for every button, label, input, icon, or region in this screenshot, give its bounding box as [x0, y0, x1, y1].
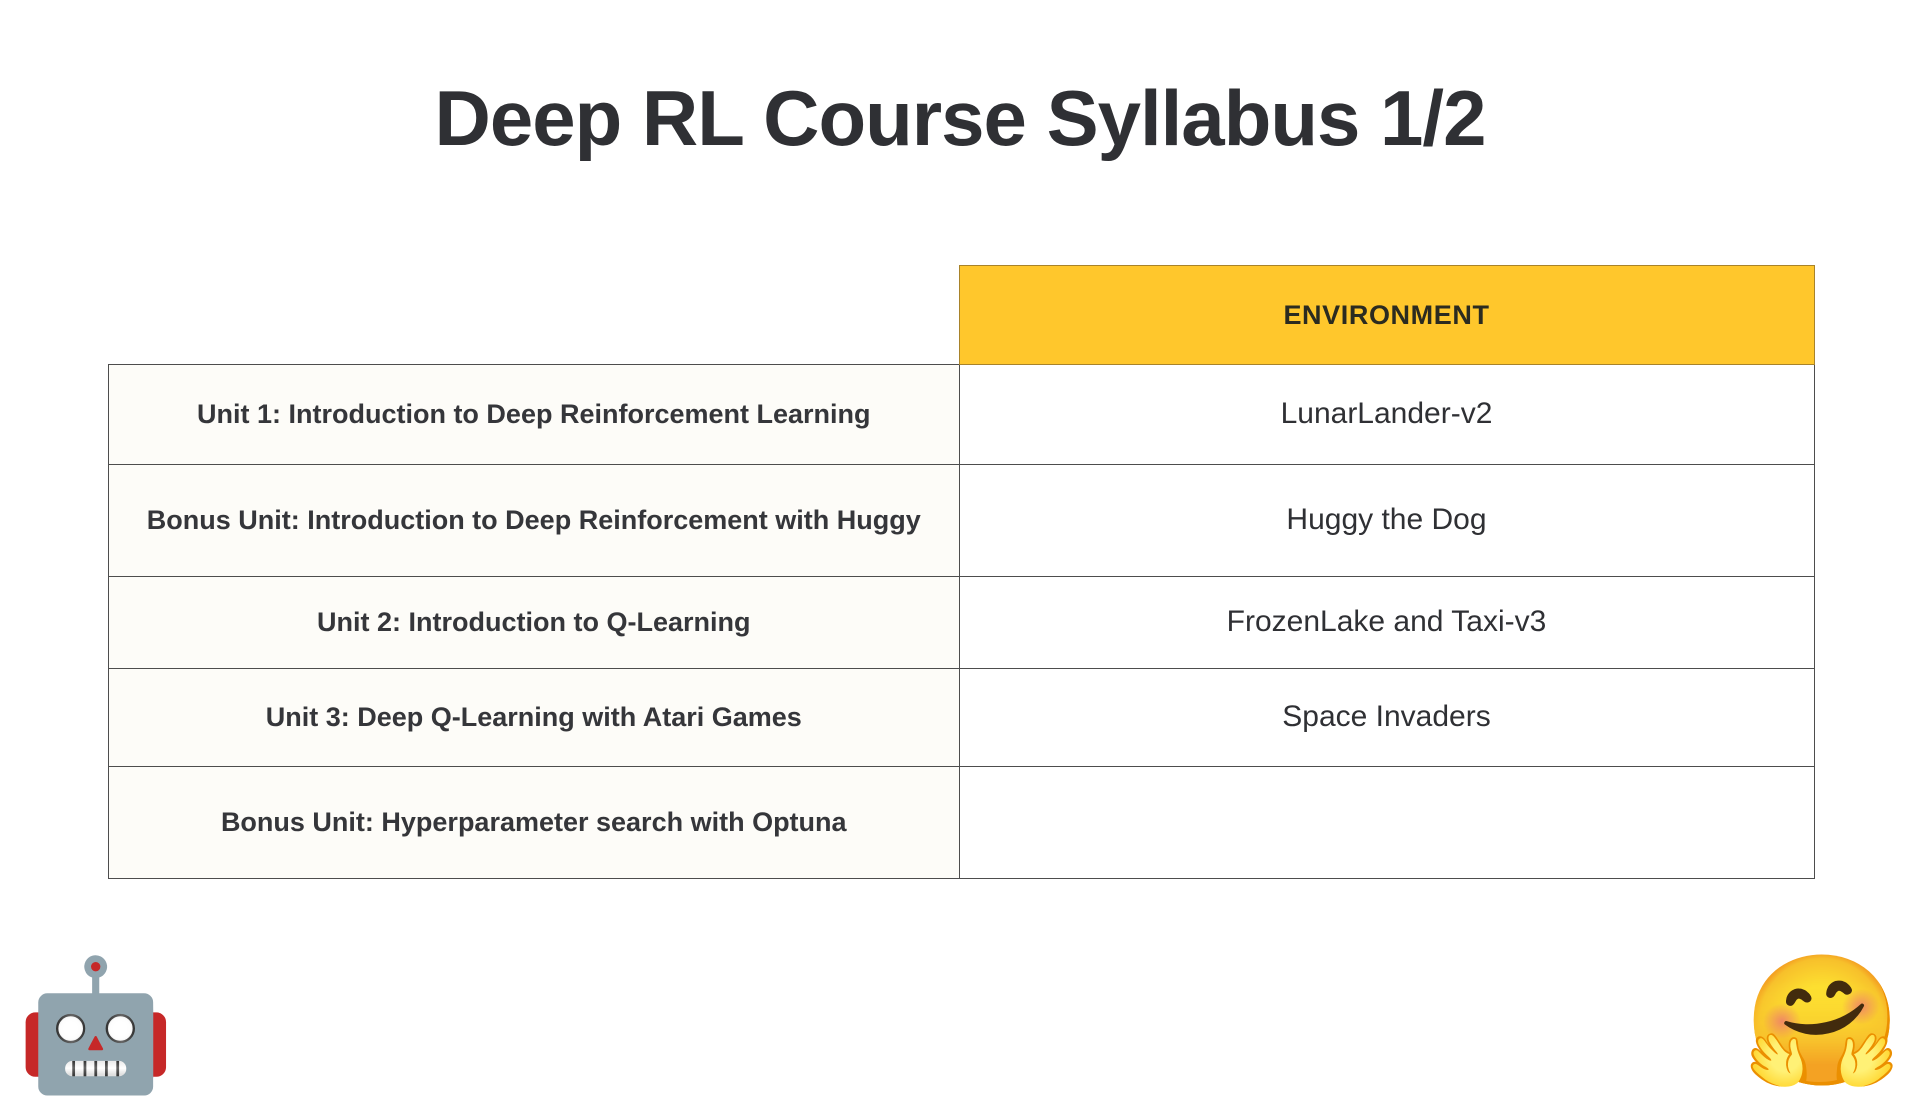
table-body: Unit 1: Introduction to Deep Reinforceme…	[109, 365, 1815, 879]
cell-unit: Bonus Unit: Hyperparameter search with O…	[109, 767, 960, 879]
cell-environment: FrozenLake and Taxi-v3	[959, 577, 1814, 669]
table-row: Unit 2: Introduction to Q-Learning Froze…	[109, 577, 1815, 669]
cell-unit: Unit 3: Deep Q-Learning with Atari Games	[109, 669, 960, 767]
robot-icon: 🤖	[16, 962, 175, 1090]
cell-unit: Bonus Unit: Introduction to Deep Reinfor…	[109, 465, 960, 577]
hugging-face-icon: 🤗	[1743, 958, 1902, 1086]
table-row: Unit 1: Introduction to Deep Reinforceme…	[109, 365, 1815, 465]
cell-environment: Huggy the Dog	[959, 465, 1814, 577]
syllabus-table: ENVIRONMENT Unit 1: Introduction to Deep…	[108, 265, 1815, 879]
table-row: Unit 3: Deep Q-Learning with Atari Games…	[109, 669, 1815, 767]
cell-unit: Unit 1: Introduction to Deep Reinforceme…	[109, 365, 960, 465]
page-title: Deep RL Course Syllabus 1/2	[0, 78, 1920, 160]
table-row: Bonus Unit: Hyperparameter search with O…	[109, 767, 1815, 879]
cell-environment	[959, 767, 1814, 879]
header-cell-unit	[109, 266, 960, 365]
cell-unit: Unit 2: Introduction to Q-Learning	[109, 577, 960, 669]
header-cell-environment: ENVIRONMENT	[959, 266, 1814, 365]
cell-environment: LunarLander-v2	[959, 365, 1814, 465]
table-row: Bonus Unit: Introduction to Deep Reinfor…	[109, 465, 1815, 577]
cell-environment: Space Invaders	[959, 669, 1814, 767]
table-header: ENVIRONMENT	[109, 266, 1815, 365]
table-header-row: ENVIRONMENT	[109, 266, 1815, 365]
